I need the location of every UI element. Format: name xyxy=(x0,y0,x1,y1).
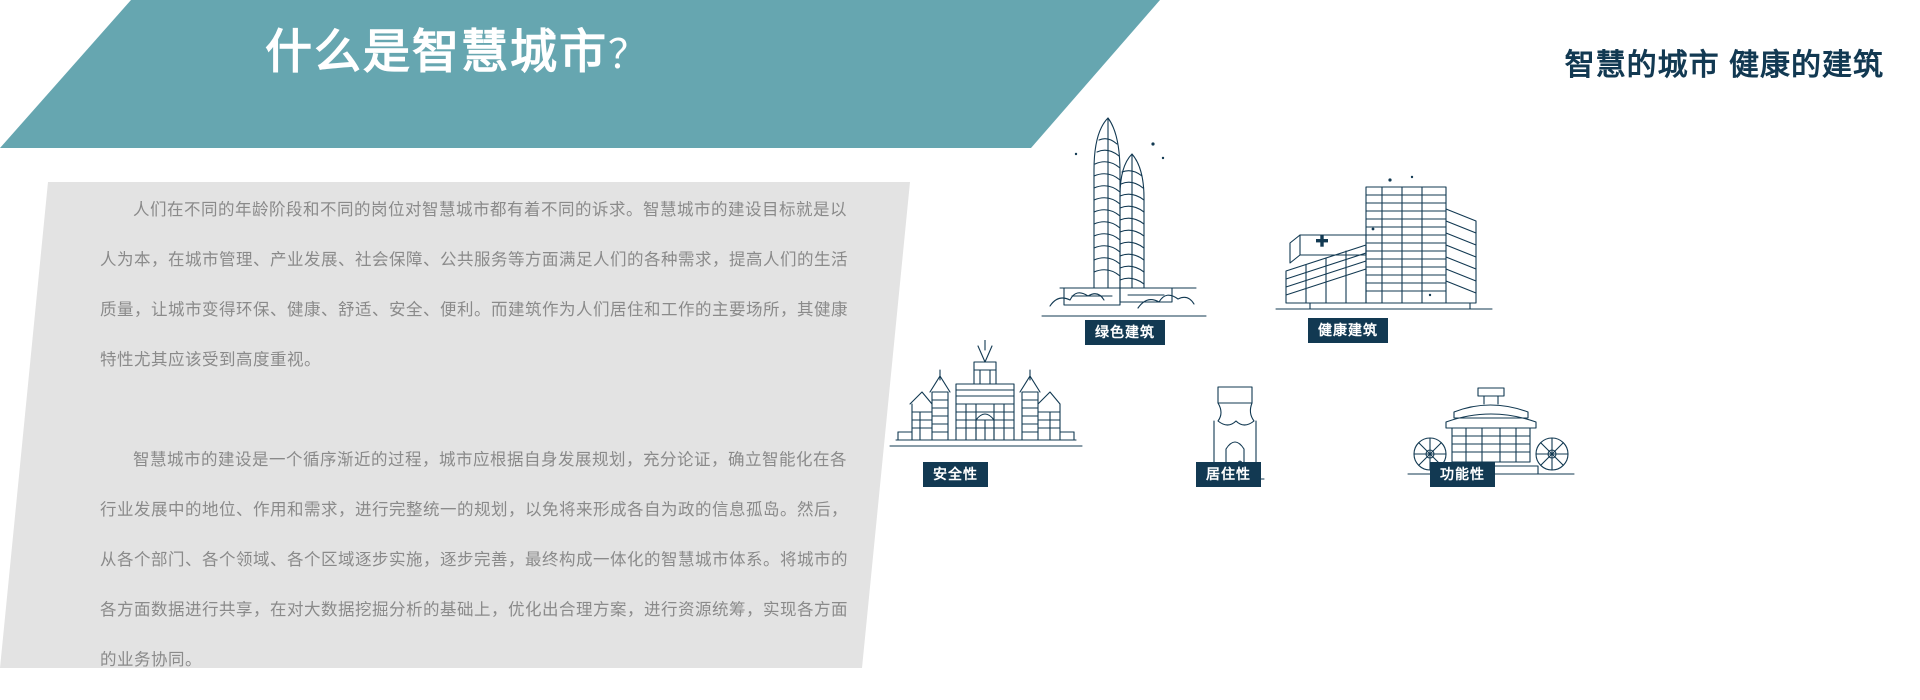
body-paragraph-2: 智慧城市的建设是一个循序渐近的过程，城市应根据自身发展规划，充分论证，确立智能化… xyxy=(100,435,860,685)
hospital-building-icon xyxy=(1270,175,1500,335)
body-paragraph-1: 人们在不同的年龄阶段和不同的岗位对智慧城市都有着不同的诉求。智慧城市的建设目标就… xyxy=(100,185,860,385)
tag-safety: 安全性 xyxy=(923,462,988,487)
page-title-text: 什么是智慧城市 xyxy=(265,25,608,78)
slogan-heading: 智慧的城市 健康的建筑 xyxy=(1565,40,1884,84)
slide-root: 什么是智慧城市？ 智慧的城市 健康的建筑 人们在不同的年龄阶段和不同的岗位对智慧… xyxy=(0,0,1920,700)
illustration-group: 绿色建筑 xyxy=(980,90,1920,650)
page-title-question-mark: ？ xyxy=(608,33,650,77)
body-text-block: 人们在不同的年龄阶段和不同的岗位对智慧城市都有着不同的诉求。智慧城市的建设目标就… xyxy=(100,185,860,685)
page-title: 什么是智慧城市？ xyxy=(265,28,650,75)
tag-health-building: 健康建筑 xyxy=(1308,318,1388,343)
tag-livability: 居住性 xyxy=(1196,462,1261,487)
twin-towers-icon xyxy=(1020,110,1260,320)
tag-functionality: 功能性 xyxy=(1430,462,1495,487)
castle-icon xyxy=(870,340,1100,460)
